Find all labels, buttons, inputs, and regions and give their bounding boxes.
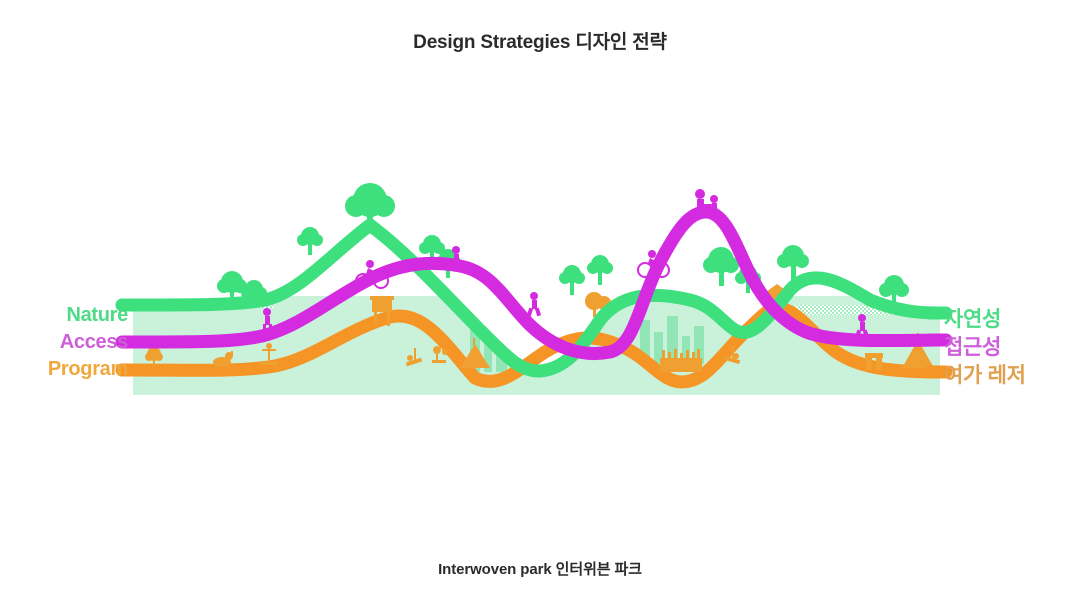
legend-right-nature: 자연성 xyxy=(944,303,1001,333)
legend-left-program: Program xyxy=(0,358,128,381)
legend-right-access: 접근성 xyxy=(944,331,1001,361)
diagram-caption: Interwoven park 인터위븐 파크 xyxy=(0,558,1080,579)
legend-left-access: Access xyxy=(0,331,128,354)
legend-right-program: 여가 레저 xyxy=(944,359,1026,389)
nature-tree-icons xyxy=(217,183,909,309)
design-strategies-diagram xyxy=(0,0,1080,608)
legend-left-nature: Nature xyxy=(0,304,128,327)
